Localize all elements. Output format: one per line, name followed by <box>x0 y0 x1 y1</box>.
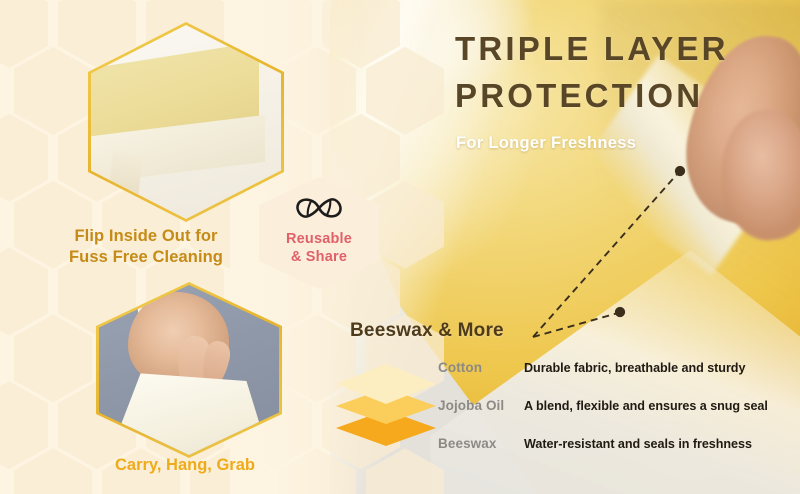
page-subtitle: For Longer Freshness <box>456 134 636 153</box>
stacked-layers-icon <box>332 358 440 450</box>
ingredients-list: CottonDurable fabric, breathable and stu… <box>438 360 788 474</box>
ingredient-row: Jojoba OilA blend, flexible and ensures … <box>438 398 788 436</box>
ingredient-label: Cotton <box>438 360 524 375</box>
infographic-canvas: Flip Inside Out for Fuss Free Cleaning C… <box>0 0 800 494</box>
ingredient-description: Durable fabric, breathable and sturdy <box>524 361 745 375</box>
page-title: TRIPLE LAYER PROTECTION <box>455 26 785 120</box>
badge-line1: Reusable <box>286 231 352 249</box>
ingredient-row: CottonDurable fabric, breathable and stu… <box>438 360 788 398</box>
feature-caption-1-line2: Fuss Free Cleaning <box>22 247 270 268</box>
feature-caption-2-line1: Carry, Hang, Grab <box>60 455 310 476</box>
ingredient-row: BeeswaxWater-resistant and seals in fres… <box>438 436 788 474</box>
infinity-leaf-icon <box>288 191 350 225</box>
badge-line2: & Share <box>286 249 352 267</box>
honeycomb-cell <box>14 314 92 402</box>
ingredient-description: Water-resistant and seals in freshness <box>524 437 752 451</box>
feature-caption-2: Carry, Hang, Grab <box>60 455 310 476</box>
layer-cotton <box>336 364 436 404</box>
ingredients-title: Beeswax & More <box>350 320 504 342</box>
feature-caption-1: Flip Inside Out for Fuss Free Cleaning <box>22 226 270 268</box>
ingredient-label: Beeswax <box>438 436 524 451</box>
ingredient-description: A blend, flexible and ensures a snug sea… <box>524 399 768 413</box>
headline-line-1: TRIPLE LAYER <box>455 26 785 73</box>
badge-text: Reusable & Share <box>286 231 352 266</box>
honeycomb-cell <box>0 114 48 202</box>
honeycomb-cell <box>14 47 92 135</box>
feature-caption-1-line1: Flip Inside Out for <box>22 226 270 247</box>
honeycomb-cell <box>0 0 48 68</box>
ingredient-label: Jojoba Oil <box>438 398 524 413</box>
headline-line-2: PROTECTION <box>455 73 785 120</box>
honeycomb-cell <box>0 381 48 469</box>
